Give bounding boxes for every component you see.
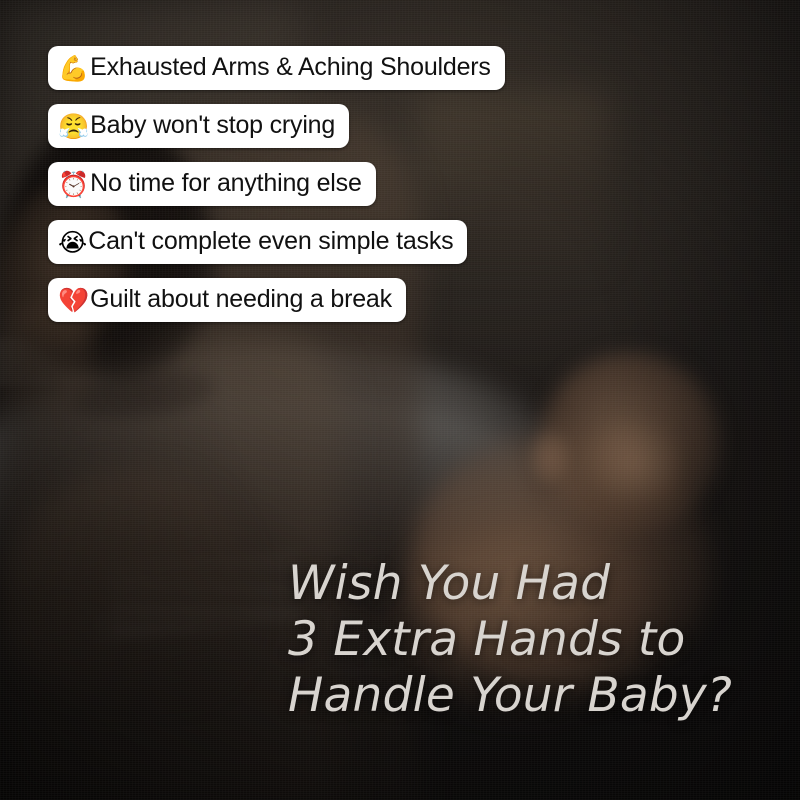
headline-line-3: Handle Your Baby? <box>288 668 788 724</box>
headline-line-1: Wish You Had <box>288 556 788 612</box>
headline-line-2: 3 Extra Hands to <box>288 612 788 668</box>
pain-point-label: Exhausted Arms & Aching Shoulders <box>90 55 491 82</box>
pain-point-chip: 💪 Exhausted Arms & Aching Shoulders <box>48 46 505 90</box>
face-with-steam-from-nose-emoji: 😤 <box>58 114 89 139</box>
pain-point-list: 💪 Exhausted Arms & Aching Shoulders 😤 Ba… <box>48 46 505 322</box>
pain-point-label: Can't complete even simple tasks <box>88 229 453 256</box>
pain-point-chip: 💔 Guilt about needing a break <box>48 278 406 322</box>
broken-heart-emoji: 💔 <box>58 288 89 313</box>
pain-point-label: No time for anything else <box>90 171 362 198</box>
flexed-biceps-emoji: 💪 <box>58 56 89 81</box>
pain-point-chip: 😭 Can't complete even simple tasks <box>48 220 467 264</box>
pain-point-chip: ⏰ No time for anything else <box>48 162 376 206</box>
pain-point-label: Baby won't stop crying <box>90 113 335 140</box>
ad-creative-canvas: 💪 Exhausted Arms & Aching Shoulders 😤 Ba… <box>0 0 800 800</box>
loudly-crying-face-emoji: 😭 <box>58 230 87 255</box>
alarm-clock-emoji: ⏰ <box>58 172 89 197</box>
headline: Wish You Had 3 Extra Hands to Handle You… <box>288 556 788 724</box>
pain-point-chip: 😤 Baby won't stop crying <box>48 104 349 148</box>
pain-point-label: Guilt about needing a break <box>90 287 392 314</box>
